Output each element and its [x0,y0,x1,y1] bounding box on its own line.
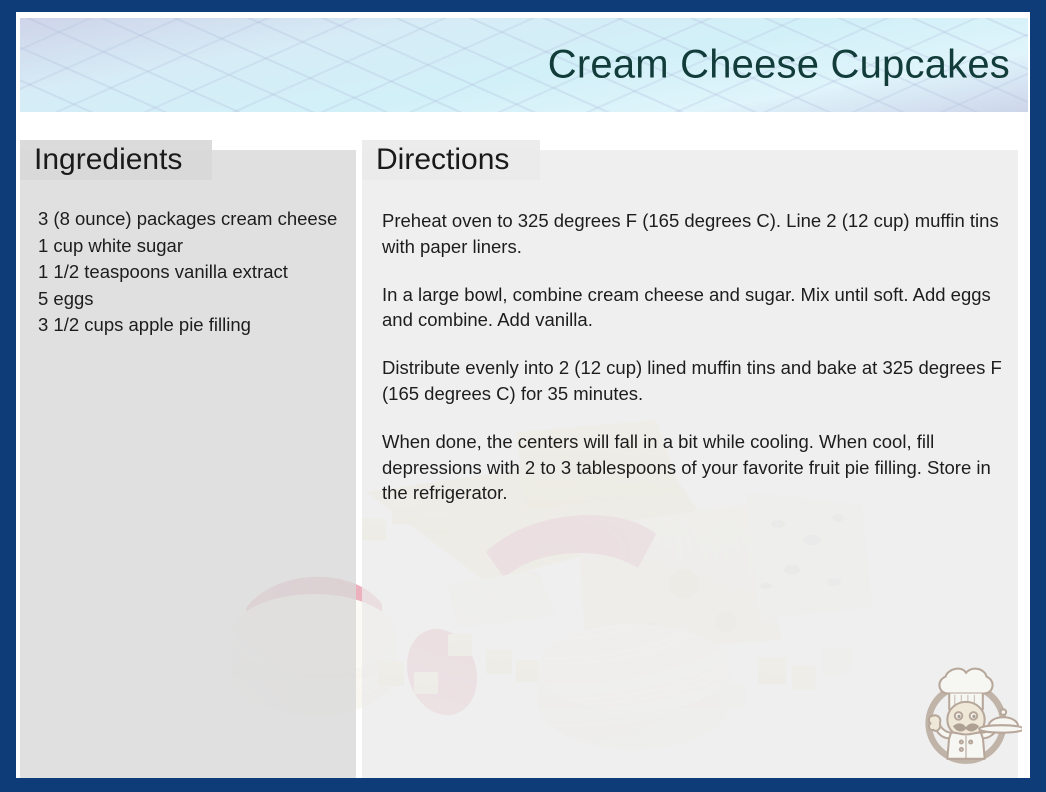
page-title: Cream Cheese Cupcakes [548,43,1010,88]
list-item: 5 eggs [38,286,350,313]
ingredients-list: 3 (8 ounce) packages cream cheese 1 cup … [38,206,350,339]
direction-step: Distribute evenly into 2 (12 cup) lined … [382,355,1012,407]
slide-canvas: Cream Cheese Cupcakes Ingredients Direct… [16,12,1030,778]
chef-with-tray-logo [910,658,1022,770]
directions-heading: Directions [362,140,540,180]
direction-step: Preheat oven to 325 degrees F (165 degre… [382,208,1012,260]
list-item: 3 1/2 cups apple pie filling [38,312,350,339]
list-item: 1 1/2 teaspoons vanilla extract [38,259,350,286]
direction-step: When done, the centers will fall in a bi… [382,429,1012,506]
ingredients-heading: Ingredients [20,140,212,180]
directions-list: Preheat oven to 325 degrees F (165 degre… [382,208,1012,506]
title-banner: Cream Cheese Cupcakes [20,18,1028,112]
direction-step: In a large bowl, combine cream cheese an… [382,282,1012,334]
list-item: 1 cup white sugar [38,233,350,260]
slide-frame: Cream Cheese Cupcakes Ingredients Direct… [0,0,1046,792]
list-item: 3 (8 ounce) packages cream cheese [38,206,350,233]
